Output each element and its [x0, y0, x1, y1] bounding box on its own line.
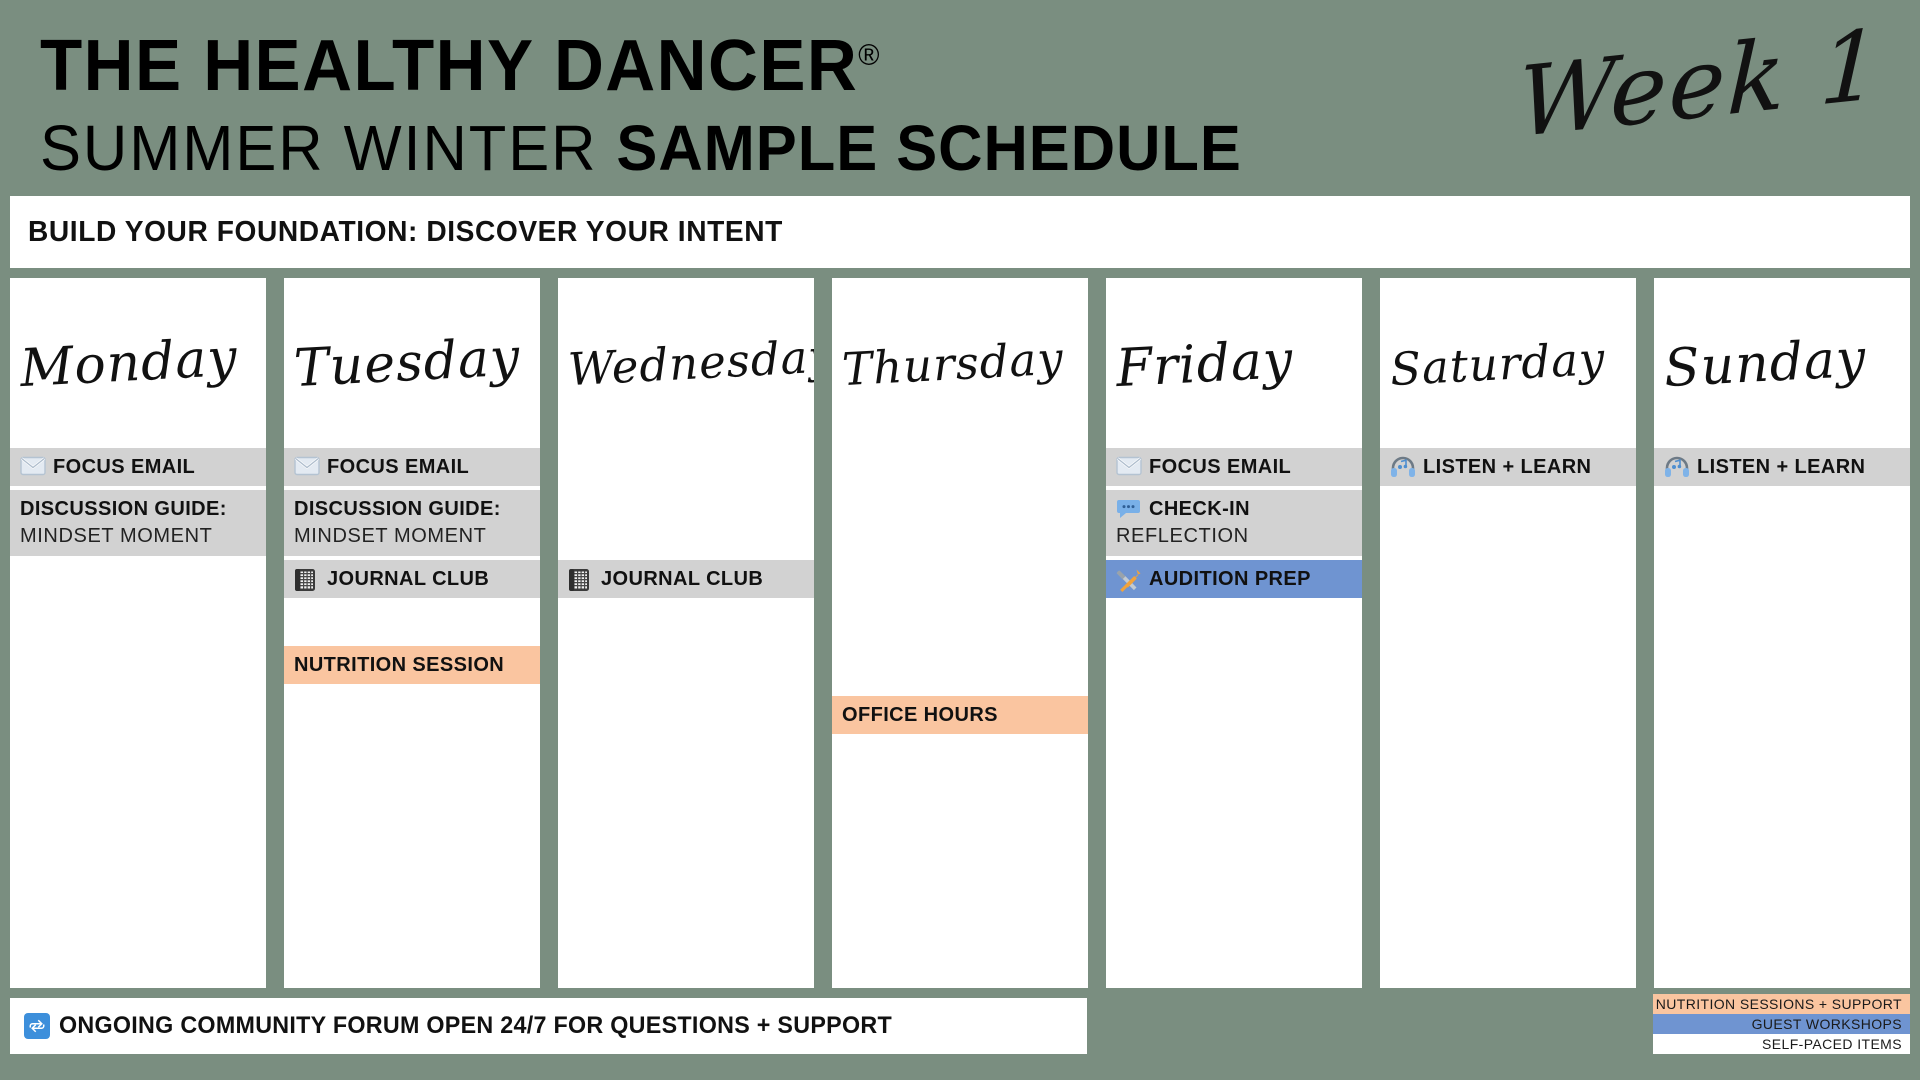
- day-name-label: Saturday: [1380, 278, 1636, 455]
- headphones-icon: [1390, 456, 1416, 478]
- event-block[interactable]: LISTEN + LEARN: [1380, 448, 1636, 486]
- envelope-icon: [1116, 456, 1142, 478]
- brand-title-line1: THE HEALTHY DANCER®: [40, 14, 880, 108]
- event-title-label: OFFICE HOURS: [842, 702, 998, 728]
- event-title-label: LISTEN + LEARN: [1423, 454, 1591, 480]
- day-events-area: LISTEN + LEARN: [1380, 448, 1636, 988]
- brand-title-line2: SUMMER WINTER SAMPLE SCHEDULE: [40, 110, 1242, 204]
- event-title-label: FOCUS EMAIL: [327, 454, 469, 480]
- headphones-icon: [1664, 456, 1690, 478]
- event-title-row: JOURNAL CLUB: [294, 566, 540, 592]
- day-name-label: Tuesday: [284, 278, 540, 455]
- day-column-sunday[interactable]: SundayLISTEN + LEARN: [1654, 278, 1910, 988]
- event-title-label: AUDITION PREP: [1149, 566, 1311, 592]
- legend-row: GUEST WORKSHOPS: [1653, 1014, 1910, 1034]
- brand-subtitle-season: SUMMER WINTER: [40, 112, 616, 184]
- event-block[interactable]: CHECK-INREFLECTION: [1106, 490, 1362, 556]
- legend-label: NUTRITION SESSIONS + SUPPORT: [1656, 996, 1902, 1012]
- event-title-label: DISCUSSION GUIDE:: [20, 496, 227, 522]
- event-block[interactable]: JOURNAL CLUB: [284, 560, 540, 598]
- day-name-label: Wednesday: [558, 278, 814, 455]
- event-block[interactable]: LISTEN + LEARN: [1654, 448, 1910, 486]
- event-block[interactable]: JOURNAL CLUB: [558, 560, 814, 598]
- legend-row: NUTRITION SESSIONS + SUPPORT: [1653, 994, 1910, 1014]
- registered-trademark-symbol: ®: [858, 39, 879, 72]
- event-title-row: CHECK-IN: [1116, 496, 1362, 522]
- day-name-label: Thursday: [832, 278, 1088, 455]
- event-title-label: LISTEN + LEARN: [1697, 454, 1865, 480]
- week-label: Week 1: [1516, 8, 1884, 159]
- ongoing-forum-text: ONGOING COMMUNITY FORUM OPEN 24/7 FOR QU…: [59, 1012, 892, 1040]
- event-title-row: FOCUS EMAIL: [1116, 454, 1362, 480]
- event-block[interactable]: DISCUSSION GUIDE:MINDSET MOMENT: [284, 490, 540, 556]
- event-title-label: JOURNAL CLUB: [601, 566, 763, 592]
- week-grid: MondayFOCUS EMAILDISCUSSION GUIDE:MINDSE…: [10, 278, 1910, 988]
- weekly-focus-banner: BUILD YOUR FOUNDATION: DISCOVER YOUR INT…: [10, 196, 1910, 268]
- event-block[interactable]: NUTRITION SESSION: [284, 646, 540, 684]
- event-block[interactable]: FOCUS EMAIL: [1106, 448, 1362, 486]
- day-name-label: Friday: [1106, 278, 1362, 455]
- event-title-row: LISTEN + LEARN: [1390, 454, 1636, 480]
- event-block[interactable]: AUDITION PREP: [1106, 560, 1362, 598]
- weekly-focus-text: BUILD YOUR FOUNDATION: DISCOVER YOUR INT…: [28, 216, 783, 249]
- tools-icon: [1116, 568, 1142, 590]
- event-title-row: OFFICE HOURS: [842, 702, 1088, 728]
- day-name-label: Monday: [10, 278, 266, 455]
- event-title-label: NUTRITION SESSION: [294, 652, 504, 678]
- event-subtitle-label: MINDSET MOMENT: [20, 522, 266, 550]
- day-column-thursday[interactable]: ThursdayOFFICE HOURS: [832, 278, 1088, 988]
- envelope-icon: [20, 456, 46, 478]
- ongoing-forum-bar: ONGOING COMMUNITY FORUM OPEN 24/7 FOR QU…: [10, 998, 1087, 1054]
- day-events-area: FOCUS EMAILCHECK-INREFLECTIONAUDITION PR…: [1106, 448, 1362, 988]
- legend-label: SELF-PACED ITEMS: [1762, 1036, 1902, 1052]
- brand-title-text: THE HEALTHY DANCER: [40, 26, 858, 106]
- day-events-area: FOCUS EMAILDISCUSSION GUIDE:MINDSET MOME…: [284, 448, 540, 988]
- color-legend: NUTRITION SESSIONS + SUPPORTGUEST WORKSH…: [1653, 994, 1910, 1054]
- notebook-icon: [294, 568, 320, 590]
- event-title-row: FOCUS EMAIL: [294, 454, 540, 480]
- legend-label: GUEST WORKSHOPS: [1752, 1016, 1902, 1032]
- event-title-label: JOURNAL CLUB: [327, 566, 489, 592]
- day-column-monday[interactable]: MondayFOCUS EMAILDISCUSSION GUIDE:MINDSE…: [10, 278, 266, 988]
- event-subtitle-label: MINDSET MOMENT: [294, 522, 540, 550]
- day-column-saturday[interactable]: SaturdayLISTEN + LEARN: [1380, 278, 1636, 988]
- event-title-label: FOCUS EMAIL: [53, 454, 195, 480]
- day-name-label: Sunday: [1654, 278, 1910, 455]
- legend-row: SELF-PACED ITEMS: [1653, 1034, 1910, 1054]
- event-title-row: LISTEN + LEARN: [1664, 454, 1910, 480]
- event-title-row: DISCUSSION GUIDE:: [294, 496, 540, 522]
- event-block[interactable]: FOCUS EMAIL: [284, 448, 540, 486]
- event-block[interactable]: FOCUS EMAIL: [10, 448, 266, 486]
- event-title-row: FOCUS EMAIL: [20, 454, 266, 480]
- event-block[interactable]: DISCUSSION GUIDE:MINDSET MOMENT: [10, 490, 266, 556]
- day-column-wednesday[interactable]: WednesdayJOURNAL CLUB: [558, 278, 814, 988]
- event-title-row: DISCUSSION GUIDE:: [20, 496, 266, 522]
- event-title-label: CHECK-IN: [1149, 496, 1250, 522]
- balloon-icon: [1116, 498, 1142, 520]
- notebook-icon: [568, 568, 594, 590]
- brand-subtitle-type: SAMPLE SCHEDULE: [616, 112, 1241, 184]
- day-column-friday[interactable]: FridayFOCUS EMAILCHECK-INREFLECTIONAUDIT…: [1106, 278, 1362, 988]
- day-column-tuesday[interactable]: TuesdayFOCUS EMAILDISCUSSION GUIDE:MINDS…: [284, 278, 540, 988]
- event-title-row: JOURNAL CLUB: [568, 566, 814, 592]
- event-title-label: FOCUS EMAIL: [1149, 454, 1291, 480]
- event-block[interactable]: OFFICE HOURS: [832, 696, 1088, 734]
- envelope-icon: [294, 456, 320, 478]
- event-title-row: NUTRITION SESSION: [294, 652, 540, 678]
- event-subtitle-label: REFLECTION: [1116, 522, 1362, 550]
- event-title-label: DISCUSSION GUIDE:: [294, 496, 501, 522]
- event-title-row: AUDITION PREP: [1116, 566, 1362, 592]
- repeat-icon: [24, 1013, 50, 1039]
- day-events-area: LISTEN + LEARN: [1654, 448, 1910, 988]
- day-events-area: JOURNAL CLUB: [558, 448, 814, 988]
- day-events-area: FOCUS EMAILDISCUSSION GUIDE:MINDSET MOME…: [10, 448, 266, 988]
- day-events-area: OFFICE HOURS: [832, 448, 1088, 988]
- brand-block: THE HEALTHY DANCER® SUMMER WINTER SAMPLE…: [40, 14, 1440, 204]
